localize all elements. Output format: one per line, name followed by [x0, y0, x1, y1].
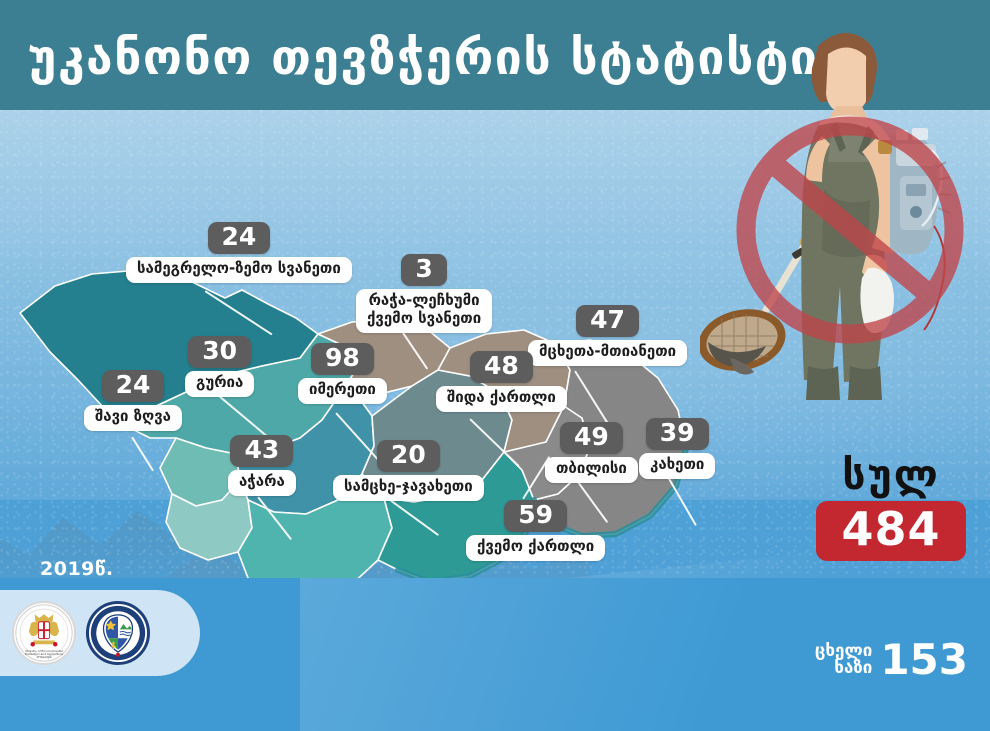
region-marker: 3რაჭა-ლეჩხუმი ქვემო სვანეთი [356, 254, 492, 333]
region-name-label: შავი ზღვა [84, 405, 182, 431]
region-name-label: სამცხე-ჯავახეთი [333, 475, 484, 501]
hotline-block: ცხელი ხაზი 153 [815, 640, 968, 680]
region-value-badge: 24 [102, 370, 165, 402]
emblem-panel: Ministry of Environmental Protection and… [0, 590, 200, 676]
department-emblem-icon [86, 601, 150, 665]
total-block: სულ 484 [816, 455, 966, 561]
svg-text:of Georgia: of Georgia [36, 655, 51, 659]
region-name-label: იმერეთი [298, 378, 387, 404]
region-value-badge: 24 [208, 222, 271, 254]
region-value-badge: 47 [576, 305, 639, 337]
region-name-label: ქვემო ქართლი [466, 535, 605, 561]
region-name-label: კახეთი [639, 453, 715, 479]
region-value-badge: 43 [230, 435, 293, 467]
fisherman-illustration [700, 10, 990, 430]
region-marker: 30გურია [185, 336, 254, 397]
region-marker: 48შიდა ქართლი [436, 351, 567, 412]
region-value-badge: 30 [188, 336, 251, 368]
region-marker: 98იმერეთი [298, 343, 387, 404]
region-value-badge: 48 [470, 351, 533, 383]
year-label: 2019წ. [40, 558, 114, 580]
region-value-badge: 3 [401, 254, 447, 286]
region-marker: 43აჭარა [228, 435, 296, 496]
hotline-number: 153 [880, 640, 968, 680]
region-name-label: გურია [185, 371, 254, 397]
ministry-emblem-icon: Ministry of Environmental Protection and… [12, 601, 76, 665]
region-name-label: თბილისი [545, 457, 638, 483]
total-value-badge: 484 [816, 501, 966, 561]
region-name-label: აჭარა [228, 470, 296, 496]
region-name-label: სამეგრელო-ზემო სვანეთი [126, 257, 352, 283]
region-value-badge: 98 [311, 343, 374, 375]
region-marker: 24შავი ზღვა [84, 370, 182, 431]
total-label: სულ [816, 455, 966, 496]
region-marker: 49თბილისი [545, 422, 638, 483]
region-name-label: რაჭა-ლეჩხუმი ქვემო სვანეთი [356, 289, 492, 332]
region-marker: 24სამეგრელო-ზემო სვანეთი [126, 222, 352, 283]
region-marker: 59ქვემო ქართლი [466, 500, 605, 561]
hotline-label: ცხელი ხაზი [815, 643, 873, 678]
region-value-badge: 59 [504, 500, 567, 532]
region-name-label: შიდა ქართლი [436, 386, 567, 412]
region-value-badge: 20 [377, 440, 440, 472]
region-marker: 20სამცხე-ჯავახეთი [333, 440, 484, 501]
region-value-badge: 49 [560, 422, 623, 454]
infographic-poster: უკანონო თევზჭერის სტატისტიკა 24სამეგრელო… [0, 0, 990, 731]
